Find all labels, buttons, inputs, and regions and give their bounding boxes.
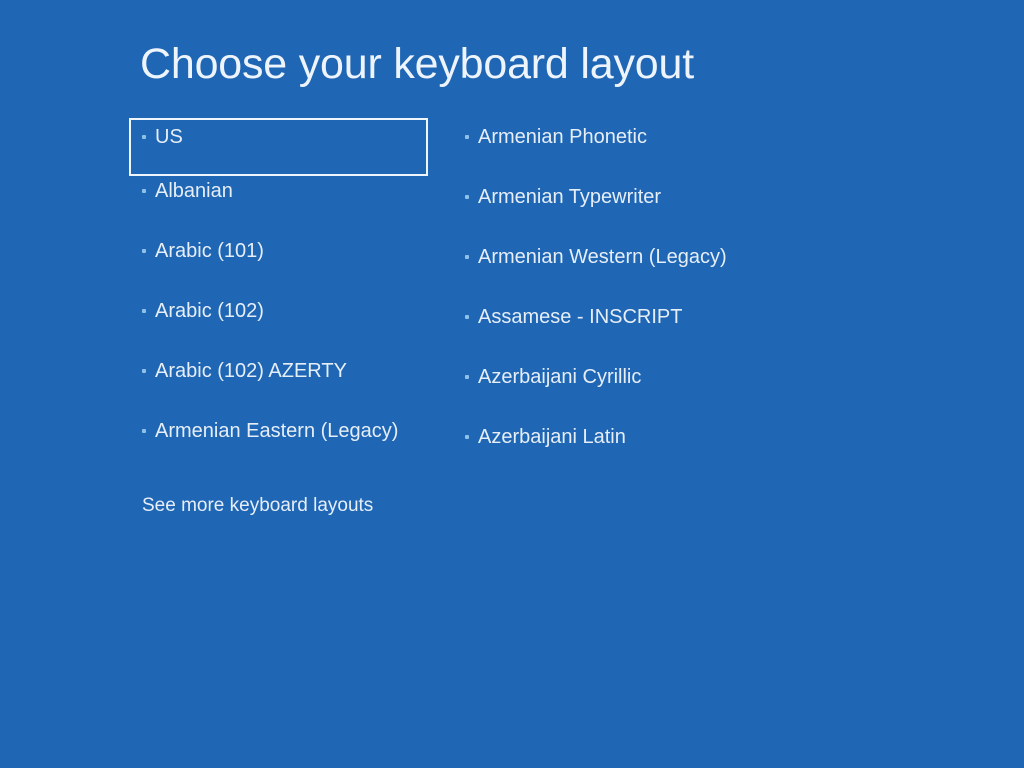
see-more-keyboard-layouts-link[interactable]: See more keyboard layouts [142, 493, 373, 518]
layout-option-arabic-102[interactable]: Arabic (102) [131, 294, 431, 354]
bullet-icon [465, 305, 478, 330]
layout-option-armenian-eastern-legacy[interactable]: Armenian Eastern (Legacy) [131, 414, 431, 474]
bullet-icon [142, 359, 155, 384]
layout-option-label: Azerbaijani Latin [478, 425, 626, 450]
layout-option-albanian[interactable]: Albanian [131, 174, 431, 234]
layout-option-armenian-typewriter[interactable]: Armenian Typewriter [462, 180, 792, 240]
layout-option-us[interactable]: US [131, 120, 426, 174]
keyboard-layout-column-left: US Albanian Arabic (101) Arabic (102) Ar… [131, 120, 431, 474]
keyboard-layout-column-right: Armenian Phonetic Armenian Typewriter Ar… [462, 120, 792, 480]
bullet-icon [142, 419, 155, 444]
page-title: Choose your keyboard layout [140, 38, 694, 90]
layout-option-arabic-102-azerty[interactable]: Arabic (102) AZERTY [131, 354, 431, 414]
bullet-icon [142, 179, 155, 204]
layout-option-armenian-phonetic[interactable]: Armenian Phonetic [462, 120, 792, 180]
layout-option-azerbaijani-latin[interactable]: Azerbaijani Latin [462, 420, 792, 480]
layout-option-label: Arabic (101) [155, 239, 264, 264]
bullet-icon [142, 125, 155, 150]
layout-option-label: Arabic (102) [155, 299, 264, 324]
layout-option-assamese-inscript[interactable]: Assamese - INSCRIPT [462, 300, 792, 360]
bullet-icon [465, 425, 478, 450]
bullet-icon [465, 125, 478, 150]
layout-option-label: Armenian Eastern (Legacy) [155, 419, 398, 444]
layout-option-label: US [155, 125, 183, 150]
layout-option-label: Albanian [155, 179, 233, 204]
layout-option-label: Azerbaijani Cyrillic [478, 365, 641, 390]
layout-option-armenian-western-legacy[interactable]: Armenian Western (Legacy) [462, 240, 792, 300]
layout-option-arabic-101[interactable]: Arabic (101) [131, 234, 431, 294]
layout-option-label: Armenian Phonetic [478, 125, 647, 150]
bullet-icon [465, 365, 478, 390]
keyboard-layout-chooser-screen: Choose your keyboard layout US Albanian … [0, 0, 1024, 768]
bullet-icon [142, 299, 155, 324]
layout-option-label: Arabic (102) AZERTY [155, 359, 347, 384]
layout-option-label: Armenian Typewriter [478, 185, 661, 210]
bullet-icon [142, 239, 155, 264]
bullet-icon [465, 185, 478, 210]
layout-option-azerbaijani-cyrillic[interactable]: Azerbaijani Cyrillic [462, 360, 792, 420]
layout-option-label: Armenian Western (Legacy) [478, 245, 727, 270]
bullet-icon [465, 245, 478, 270]
layout-option-label: Assamese - INSCRIPT [478, 305, 682, 330]
